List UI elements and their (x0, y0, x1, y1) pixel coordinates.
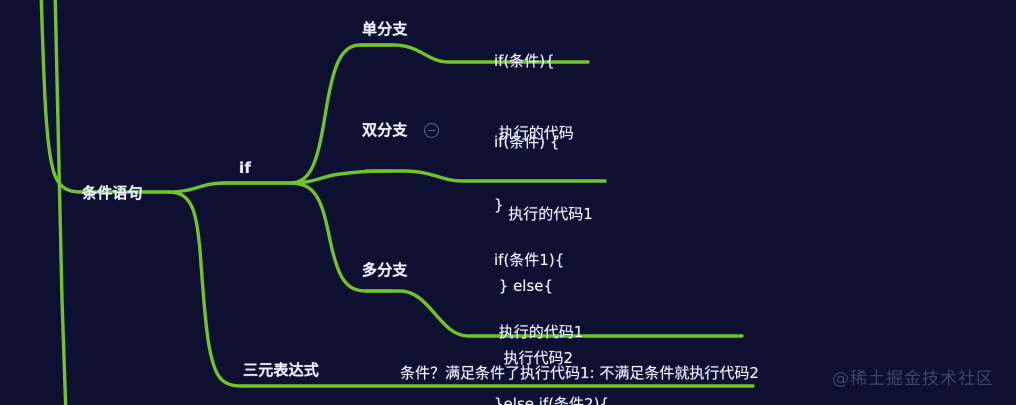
code-line: if(条件){ (494, 49, 574, 73)
node-label-multi-branch[interactable]: 多分支 (362, 261, 408, 279)
collapse-toggle-icon[interactable] (424, 123, 439, 138)
link-if-to-single (290, 45, 392, 183)
incoming-branch-lower (55, 0, 66, 405)
code-block-ternary[interactable]: 条件？满足条件了执行代码1: 不满足条件就执行代码2 (400, 361, 759, 385)
node-label-if[interactable]: if (239, 159, 251, 177)
node-label-single-branch[interactable]: 单分支 (362, 20, 408, 38)
code-line: 执行的代码1 (494, 320, 739, 344)
node-label-root[interactable]: 条件语句 (82, 184, 143, 202)
mindmap-canvas: 条件语句 if 单分支 双分支 多分支 三元表达式 if(条件){ 执行的代码 … (0, 0, 1016, 405)
watermark: @稀土掘金技术社区 (832, 364, 994, 389)
code-line: }else if(条件2){ (494, 392, 739, 405)
node-label-double-branch[interactable]: 双分支 (362, 121, 408, 139)
code-line: if(条件) { (494, 130, 593, 154)
code-line: if(条件1){ (494, 248, 739, 272)
link-root-to-ternary (168, 192, 242, 386)
node-label-ternary[interactable]: 三元表达式 (243, 361, 319, 379)
incoming-branch-upper (41, 0, 100, 192)
